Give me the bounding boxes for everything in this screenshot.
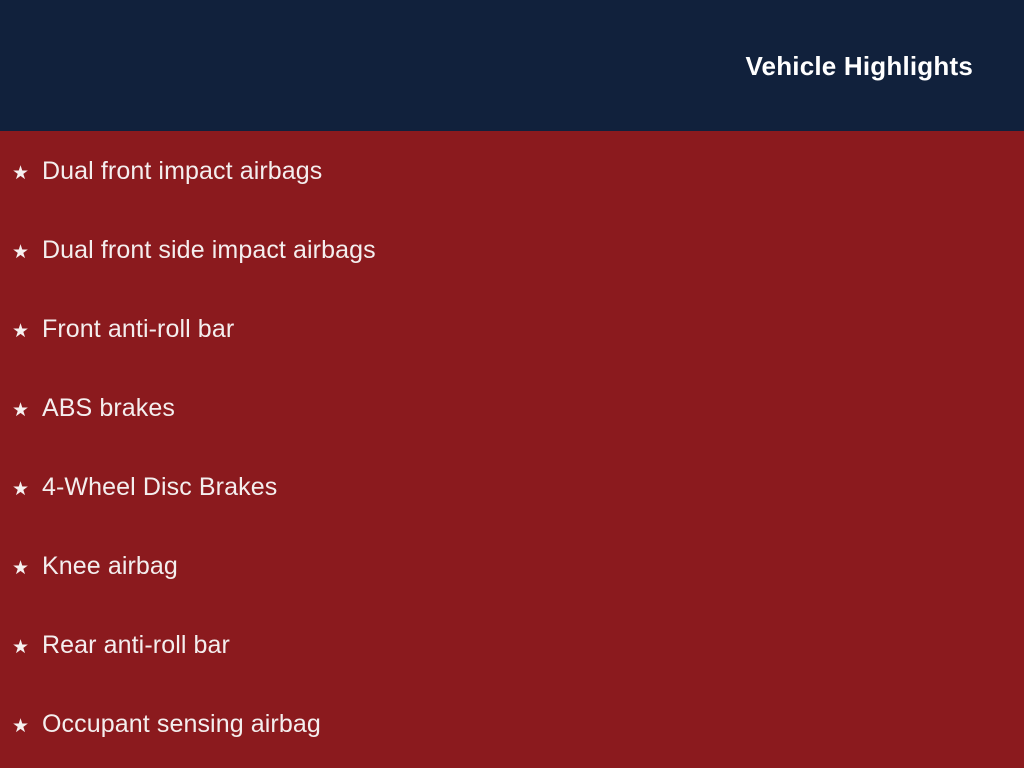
star-icon: ★ xyxy=(12,401,42,420)
star-icon: ★ xyxy=(12,559,42,578)
list-item: ★ Dual front side impact airbags xyxy=(0,238,1024,317)
star-icon: ★ xyxy=(12,717,42,736)
list-item-label: ABS brakes xyxy=(42,396,175,421)
list-item-label: Dual front impact airbags xyxy=(42,159,322,184)
highlights-body: ★ Dual front impact airbags ★ Dual front… xyxy=(0,131,1024,768)
star-icon: ★ xyxy=(12,164,42,183)
list-item: ★ Front anti-roll bar xyxy=(0,317,1024,396)
list-item-label: Dual front side impact airbags xyxy=(42,238,376,263)
list-item: ★ Rear anti-roll bar xyxy=(0,633,1024,712)
vehicle-highlights-list: ★ Dual front impact airbags ★ Dual front… xyxy=(0,131,1024,768)
list-item-label: Occupant sensing airbag xyxy=(42,712,321,737)
list-item-label: Knee airbag xyxy=(42,554,178,579)
list-item: ★ Knee airbag xyxy=(0,554,1024,633)
list-item: ★ Occupant sensing airbag xyxy=(0,712,1024,768)
star-icon: ★ xyxy=(12,480,42,499)
list-item-label: 4-Wheel Disc Brakes xyxy=(42,475,277,500)
list-item-label: Rear anti-roll bar xyxy=(42,633,230,658)
list-item: ★ 4-Wheel Disc Brakes xyxy=(0,475,1024,554)
star-icon: ★ xyxy=(12,322,42,341)
star-icon: ★ xyxy=(12,243,42,262)
star-icon: ★ xyxy=(12,638,42,657)
list-item-label: Front anti-roll bar xyxy=(42,317,234,342)
vehicle-highlights-slide: Vehicle Highlights ★ Dual front impact a… xyxy=(0,0,1024,768)
page-title: Vehicle Highlights xyxy=(745,0,973,131)
list-item: ★ Dual front impact airbags xyxy=(0,159,1024,238)
header-band: Vehicle Highlights xyxy=(0,0,1024,131)
list-item: ★ ABS brakes xyxy=(0,396,1024,475)
